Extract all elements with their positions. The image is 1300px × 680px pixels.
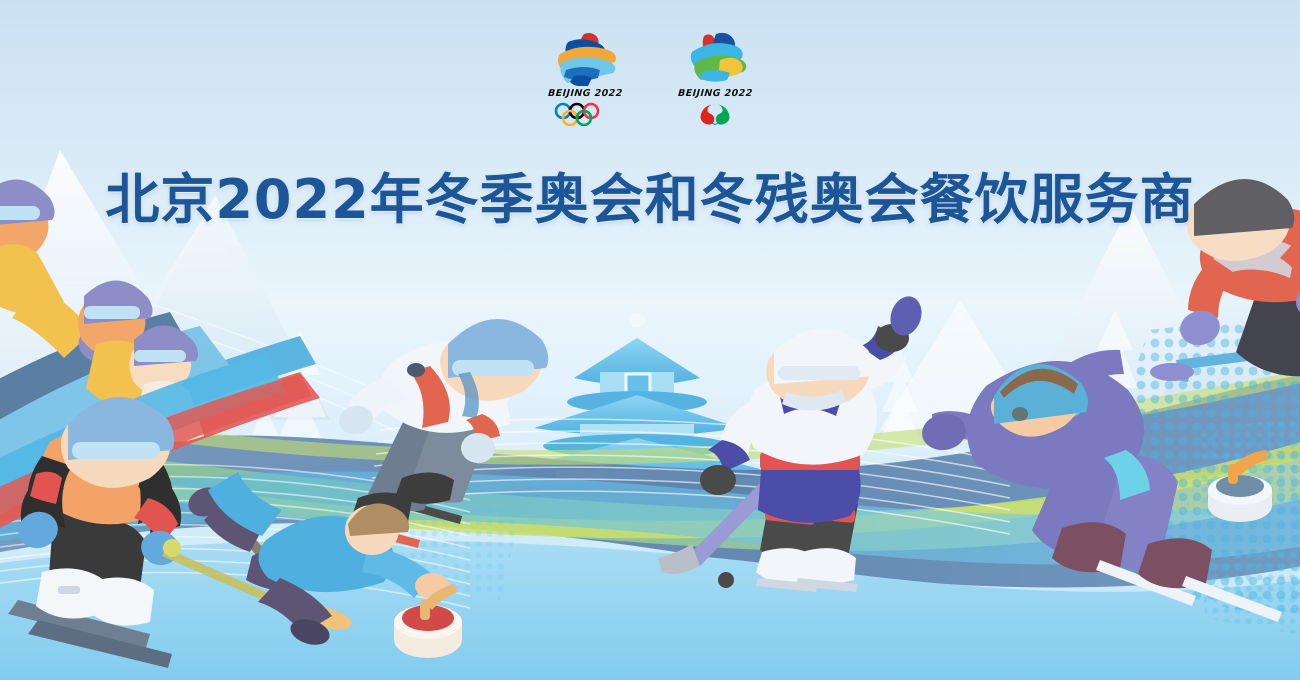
emblem-group: BEIJING 2022 BEIJING 2022 bbox=[0, 30, 1300, 126]
beijing-2022-olympic-emblem: BEIJING 2022 bbox=[540, 30, 630, 126]
olympic-emblem-mark bbox=[540, 30, 630, 86]
page-title: 北京2022年冬季奥会和冬残奥会餐饮服务商 bbox=[105, 172, 1194, 229]
beijing-2022-catering-banner: BEIJING 2022 BEIJING 2022 bbox=[0, 0, 1300, 680]
title-block: 北京2022年冬季奥会和冬残奥会餐饮服务商 bbox=[0, 136, 1300, 265]
olympic-wordmark: BEIJING 2022 bbox=[547, 88, 622, 99]
paralympic-emblem-mark bbox=[670, 30, 760, 86]
beijing-2022-paralympic-emblem: BEIJING 2022 bbox=[670, 30, 760, 126]
paralympic-agitos-icon bbox=[680, 102, 750, 126]
paralympic-wordmark: BEIJING 2022 bbox=[677, 88, 752, 99]
curling-stone-yellow bbox=[1208, 450, 1272, 522]
ice-hockey-player bbox=[658, 292, 926, 592]
olympic-rings-icon bbox=[550, 102, 620, 126]
